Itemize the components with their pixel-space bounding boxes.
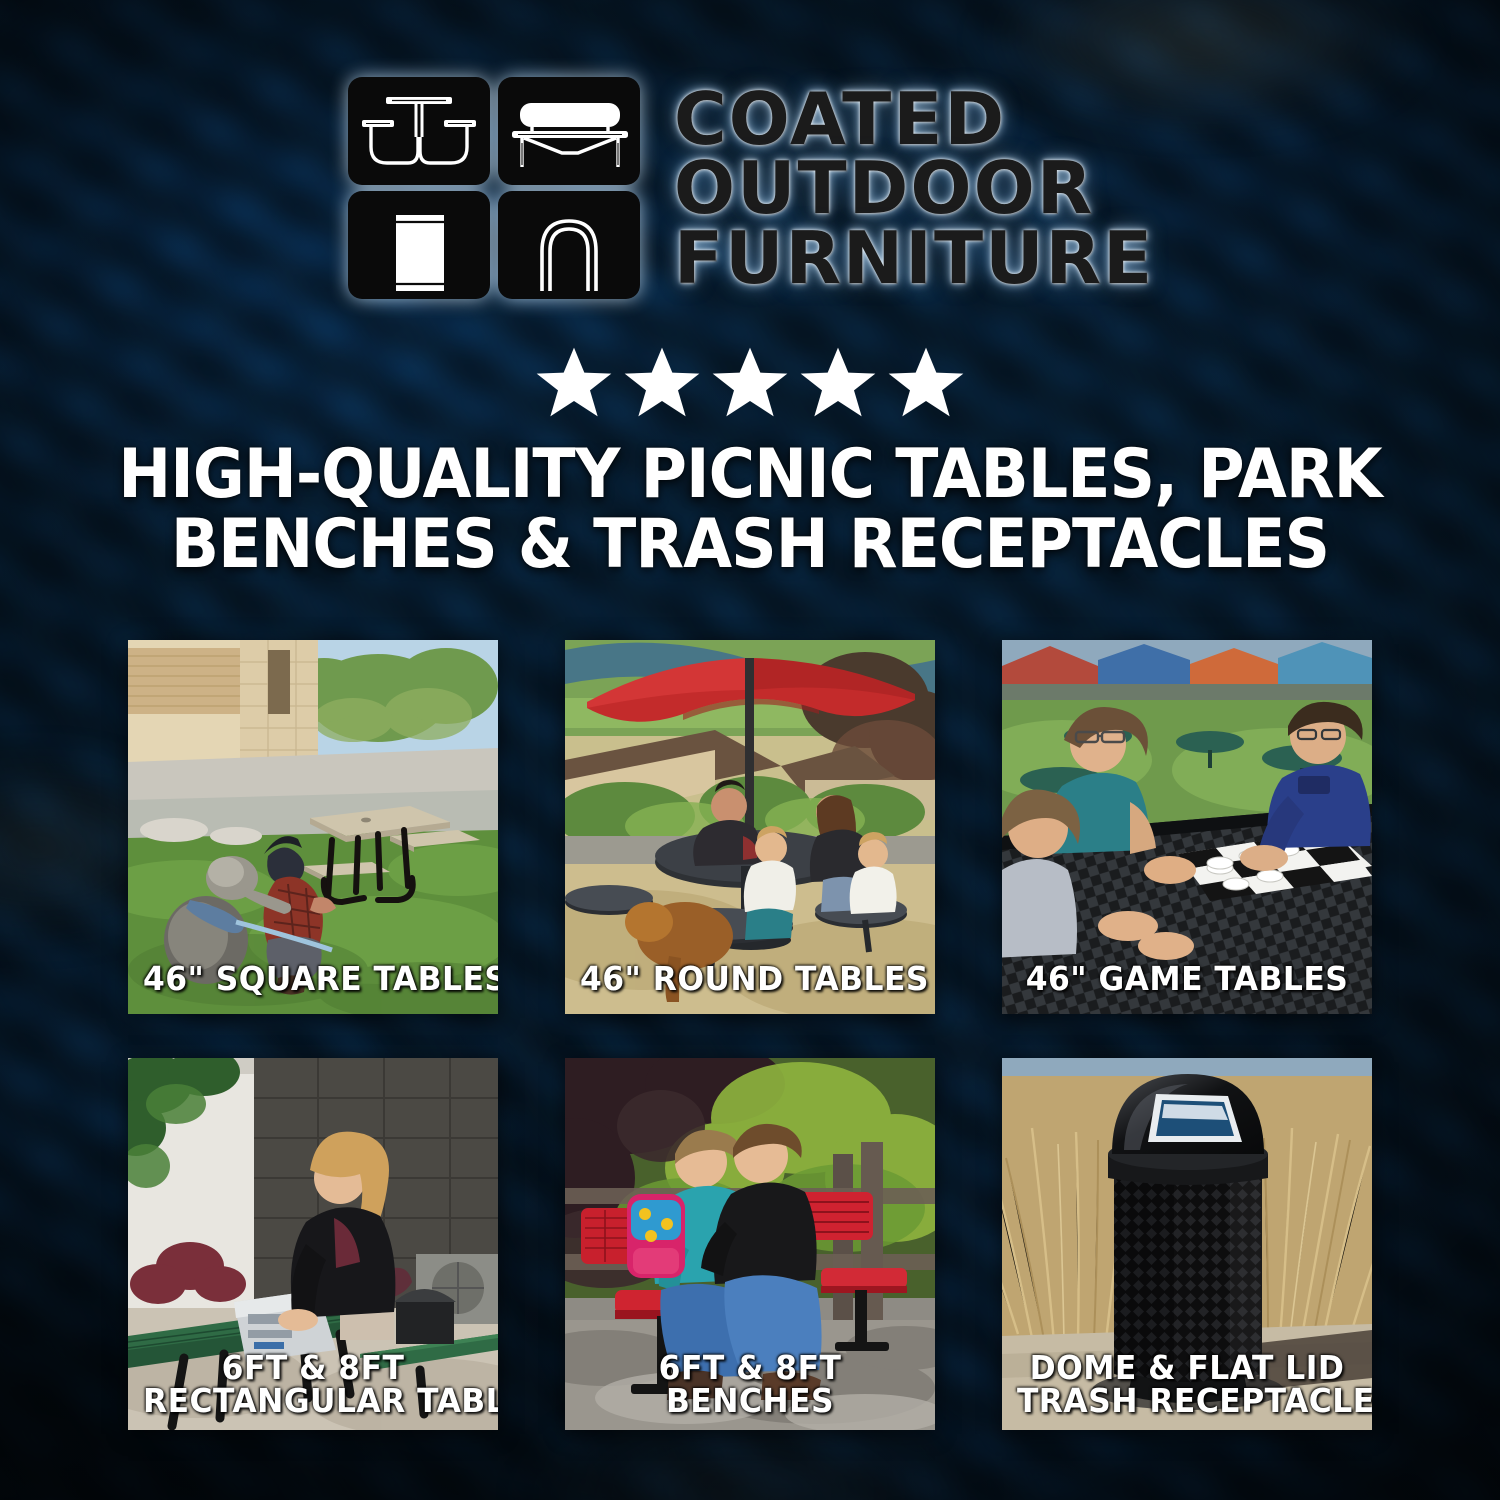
logo-quadrant-1 (348, 77, 490, 185)
logo-quadrant-4 (498, 191, 640, 299)
headline-line-1: HIGH-QUALITY PICNIC TABLES, PARK (108, 440, 1391, 510)
planter (394, 1289, 456, 1344)
product-tile-round-tables[interactable]: 46" ROUND TABLES (565, 640, 935, 1014)
backpack (627, 1194, 685, 1278)
brand-logo-mark (346, 75, 642, 301)
caption-line-2: BENCHES (580, 1384, 920, 1418)
headline-line-2: BENCHES & TRASH RECEPTACLES (108, 510, 1391, 580)
product-grid: 46" SQUARE TABLES (128, 640, 1372, 1430)
product-caption: 46" GAME TABLES (1017, 962, 1357, 996)
product-photo-game-tables (1002, 640, 1372, 1014)
brand-line-1: COATED (674, 85, 1154, 154)
product-tile-square-tables[interactable]: 46" SQUARE TABLES (128, 640, 498, 1014)
product-tile-trash-receptacles[interactable]: DOME & FLAT LID TRASH RECEPTACLES (1002, 1058, 1372, 1430)
product-tile-benches[interactable]: 6FT & 8FT BENCHES (565, 1058, 935, 1430)
product-caption: 46" SQUARE TABLES (143, 962, 483, 996)
caption-line-2: RECTANGULAR TABLES (143, 1384, 483, 1418)
star-icon (885, 343, 967, 423)
headline: HIGH-QUALITY PICNIC TABLES, PARK BENCHES… (108, 440, 1391, 580)
promo-banner: COATED OUTDOOR FURNITURE HIGH-QUALITY PI… (0, 0, 1500, 1500)
product-caption: 6FT & 8FT RECTANGULAR TABLES (143, 1351, 483, 1418)
star-icon (621, 343, 703, 423)
product-tile-game-tables[interactable]: 46" GAME TABLES (1002, 640, 1372, 1014)
star-icon (709, 343, 791, 423)
product-caption: 6FT & 8FT BENCHES (580, 1351, 920, 1418)
brand-line-3: FURNITURE (674, 224, 1154, 293)
star-icon (797, 343, 879, 423)
caption-line-1: 46" SQUARE TABLES (143, 962, 483, 996)
product-tile-rectangular-tables[interactable]: 6FT & 8FT RECTANGULAR TABLES (128, 1058, 498, 1430)
star-rating (0, 352, 1500, 414)
caption-line-2: TRASH RECEPTACLES (1017, 1384, 1357, 1418)
trash-receptacle-flat-lid-icon (396, 215, 444, 291)
star-icon (533, 343, 615, 423)
product-caption: DOME & FLAT LID TRASH RECEPTACLES (1017, 1351, 1357, 1418)
caption-line-1: 46" ROUND TABLES (580, 962, 920, 996)
brand-line-2: OUTDOOR (674, 154, 1154, 223)
product-photo-square-tables (128, 640, 498, 1014)
caption-line-1: 6FT & 8FT (580, 1351, 920, 1385)
product-caption: 46" ROUND TABLES (580, 962, 920, 996)
brand-wordmark: COATED OUTDOOR FURNITURE (674, 85, 1154, 292)
product-photo-round-tables (565, 640, 935, 1014)
caption-line-1: 6FT & 8FT (143, 1351, 483, 1385)
caption-line-1: 46" GAME TABLES (1017, 962, 1357, 996)
brand-header: COATED OUTDOOR FURNITURE (0, 72, 1500, 304)
caption-line-1: DOME & FLAT LID (1017, 1351, 1357, 1385)
